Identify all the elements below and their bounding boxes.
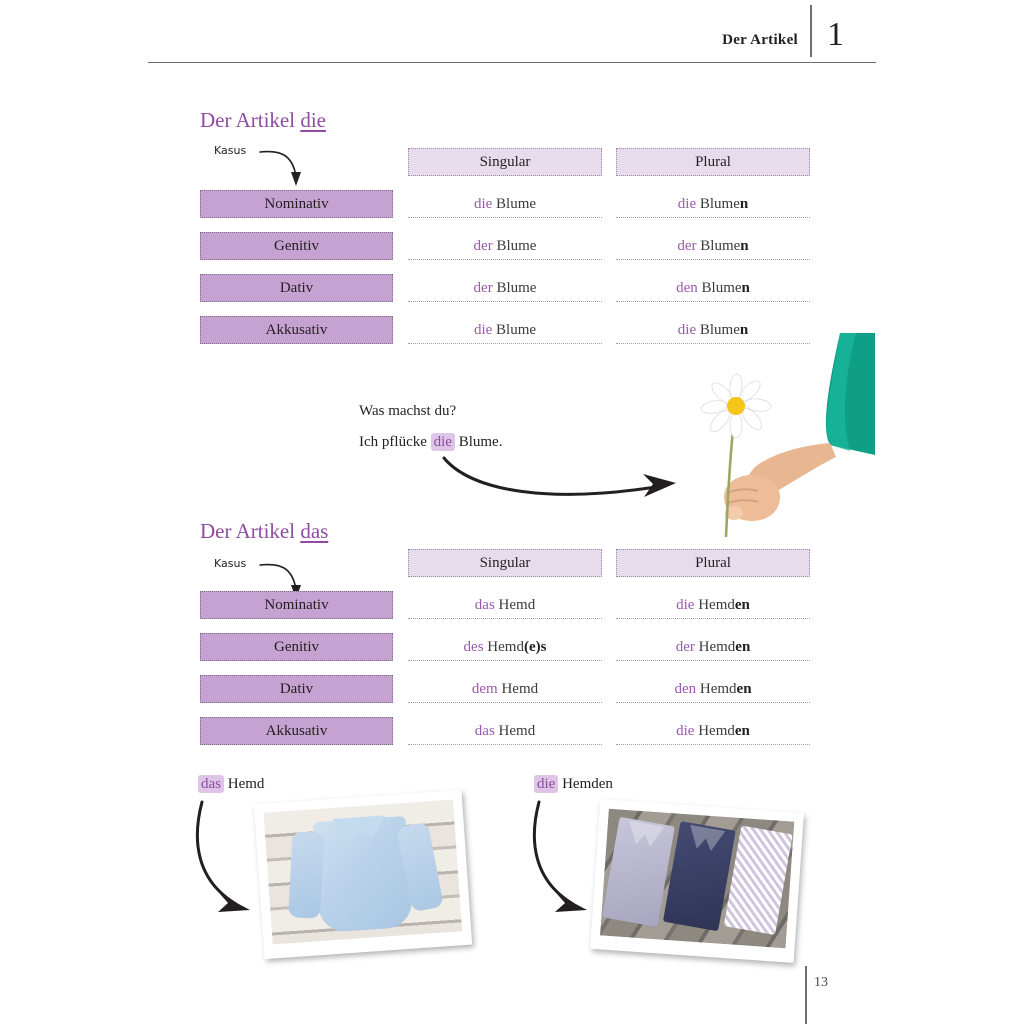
noun: Hemd [700, 681, 737, 697]
column-header-plural: Plural [616, 148, 810, 176]
cell-singular-nominativ: das Hemd [408, 591, 602, 619]
noun: Blume [700, 196, 740, 212]
page-header: Der Artikel 1 [148, 0, 876, 62]
noun: Blume [702, 280, 742, 296]
kasus-callout-label: Kasus [214, 144, 246, 157]
article: den [676, 280, 698, 296]
case-label-akkusativ: Akkusativ [200, 717, 393, 745]
page-number: 13 [814, 975, 828, 991]
cell-singular-dativ: dem Hemd [408, 675, 602, 703]
cell-singular-genitiv: der Blume [408, 232, 602, 260]
caption-highlighted-article: die [534, 775, 558, 793]
shirt-collar [686, 825, 725, 853]
cell-singular-akkusativ: die Blume [408, 316, 602, 344]
article: der [676, 639, 695, 655]
section-title-das: Der Artikel das [200, 519, 328, 544]
chapter-number: 1 [827, 18, 844, 52]
case-label-genitiv: Genitiv [200, 232, 393, 260]
article: des [464, 639, 484, 655]
noun-ending: (e)s [524, 639, 547, 655]
article: die [474, 196, 492, 212]
cell-plural-genitiv: der Hemden [616, 633, 810, 661]
cell-plural-dativ: den Blumen [616, 274, 810, 302]
case-label-dativ: Dativ [200, 675, 393, 703]
noun: Hemd [698, 723, 735, 739]
article: den [674, 681, 696, 697]
noun: Blume [496, 322, 536, 338]
noun-ending: n [740, 238, 748, 254]
hand-holding-daisy-image [690, 325, 875, 540]
noun: Blume [496, 238, 536, 254]
cell-singular-akkusativ: das Hemd [408, 717, 602, 745]
article: das [475, 723, 495, 739]
shirt-collar [625, 821, 664, 849]
article: der [474, 280, 493, 296]
noun: Blume [496, 280, 536, 296]
answer-text-before: Ich pflücke [359, 434, 431, 450]
cell-plural-nominativ: die Hemden [616, 591, 810, 619]
cell-plural-dativ: den Hemden [616, 675, 810, 703]
article: das [475, 597, 495, 613]
cell-singular-nominativ: die Blume [408, 190, 602, 218]
noun: Hemd [699, 639, 736, 655]
section-title-article: das [300, 519, 328, 543]
article: dem [472, 681, 498, 697]
shirt-collar [332, 815, 387, 841]
caption-highlighted-article: das [198, 775, 224, 793]
cell-plural-genitiv: der Blumen [616, 232, 810, 260]
noun: Hemd [698, 597, 735, 613]
article: die [676, 723, 694, 739]
photo-shirt-singular [254, 790, 472, 959]
noun: Hemd [501, 681, 538, 697]
cell-plural-nominativ: die Blumen [616, 190, 810, 218]
column-header-singular: Singular [408, 549, 602, 577]
example-dialogue: Was machst du? Ich pflücke die Blume. [359, 396, 502, 458]
noun: Hemd [499, 597, 536, 613]
section-title-prefix: Der Artikel [200, 519, 300, 543]
caption-plural-hemden: die Hemden [534, 776, 613, 793]
caption-noun: Hemd [224, 776, 264, 792]
case-label-dativ: Dativ [200, 274, 393, 302]
section-title-article: die [300, 108, 326, 132]
answer-text-after: Blume. [455, 434, 503, 450]
shirt-sleeve-left [288, 831, 324, 919]
blue-shirt-shape [313, 816, 414, 933]
case-label-nominativ: Nominativ [200, 190, 393, 218]
noun-ending: en [735, 597, 750, 613]
case-label-nominativ: Nominativ [200, 591, 393, 619]
article: der [474, 238, 493, 254]
header-rule [148, 62, 876, 63]
caption-noun: Hemden [558, 776, 613, 792]
noun: Blume [496, 196, 536, 212]
header-title: Der Artikel [722, 32, 798, 49]
article: die [678, 196, 696, 212]
article: die [474, 322, 492, 338]
noun: Hemd [499, 723, 536, 739]
example-question: Was machst du? [359, 396, 502, 427]
noun-ending: n [742, 280, 750, 296]
noun-ending: n [740, 196, 748, 212]
caption-singular-hemd: das Hemd [198, 776, 264, 793]
photo-shirts-plural-image [600, 809, 794, 949]
article: die [676, 597, 694, 613]
photo-shirts-plural [590, 799, 804, 963]
case-label-genitiv: Genitiv [200, 633, 393, 661]
kasus-arrow-icon [258, 142, 314, 194]
noun: Blume [700, 238, 740, 254]
cell-plural-akkusativ: die Hemden [616, 717, 810, 745]
noun-ending: en [737, 681, 752, 697]
column-header-plural: Plural [616, 549, 810, 577]
case-label-akkusativ: Akkusativ [200, 316, 393, 344]
noun: Hemd [487, 639, 524, 655]
kasus-callout-label: Kasus [214, 557, 246, 570]
section-title-prefix: Der Artikel [200, 108, 300, 132]
arrow-to-shirts-plural-icon [527, 796, 603, 920]
cell-singular-dativ: der Blume [408, 274, 602, 302]
photo-shirt-singular-image [263, 800, 462, 945]
footer-divider [805, 966, 807, 1024]
article: der [677, 238, 696, 254]
section-title-die: Der Artikel die [200, 108, 326, 133]
noun-ending: en [735, 639, 750, 655]
column-header-singular: Singular [408, 148, 602, 176]
noun-ending: en [735, 723, 750, 739]
answer-highlighted-article: die [431, 433, 455, 451]
arrow-to-hand-icon [440, 452, 690, 508]
header-divider [810, 5, 812, 57]
cell-singular-genitiv: des Hemd(e)s [408, 633, 602, 661]
